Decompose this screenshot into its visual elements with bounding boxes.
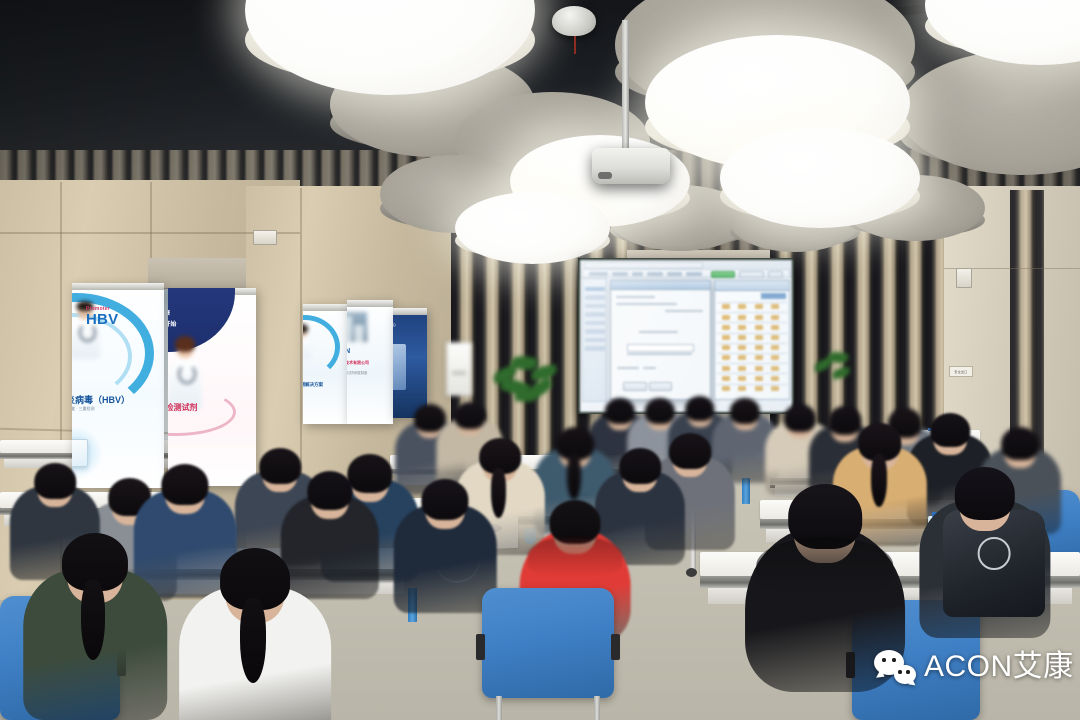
grid-cell[interactable]: [738, 366, 746, 371]
grid-cell[interactable]: [755, 345, 763, 350]
dialog-line: [616, 296, 656, 298]
seminar-room-photo: 安全出口: [0, 0, 1080, 720]
grid-row-line: [717, 363, 787, 364]
audience-person: [919, 455, 1050, 650]
grid-cell[interactable]: [722, 376, 730, 381]
dialog-line: [627, 353, 693, 355]
wall-switch-plate[interactable]: [253, 230, 277, 245]
smoke-detector-icon: [552, 6, 596, 36]
grid-cell[interactable]: [755, 325, 763, 330]
table-caster: [686, 568, 697, 577]
watermark-text: ACON艾康: [924, 652, 1074, 682]
dialog-titlebar: [611, 281, 711, 290]
toolbar-item[interactable]: [612, 272, 628, 276]
wall-switch-plate[interactable]: [956, 268, 972, 288]
banner-company: ACON 艾康生物技术有限公司 专业体外诊断试剂研发制造: [347, 300, 393, 424]
grid-row-line: [717, 312, 787, 313]
person-ponytail: [81, 580, 106, 661]
toolbar-icon-button[interactable]: [768, 271, 782, 277]
grid-cell[interactable]: [738, 315, 746, 320]
banner-headline-line2: 从筛查HPV开始: [168, 319, 176, 328]
person-hair: [455, 402, 486, 429]
grid-row-line: [717, 343, 787, 344]
grid-cell[interactable]: [755, 315, 763, 320]
grid-cell[interactable]: [755, 304, 763, 309]
grid-cell[interactable]: [755, 386, 763, 391]
lamp-face: [720, 128, 920, 228]
grid-cell[interactable]: [771, 366, 779, 371]
grid-cell[interactable]: [738, 345, 746, 350]
person-hair: [930, 413, 970, 448]
sidebar-row[interactable]: [585, 338, 605, 343]
wechat-logo-icon: [874, 650, 916, 684]
grid-cell[interactable]: [738, 325, 746, 330]
ceiling-lamp: [720, 128, 920, 228]
ceiling-lamp: [455, 192, 610, 264]
person-hair: [34, 463, 76, 499]
toolbar-item[interactable]: [667, 272, 681, 276]
grid-cell[interactable]: [738, 386, 746, 391]
grid-row-line: [717, 384, 787, 385]
person-hair: [307, 471, 352, 511]
water-dispenser: [446, 342, 472, 396]
grid-cell[interactable]: [771, 386, 779, 391]
grid-cell[interactable]: [738, 376, 746, 381]
banner-headline: 快速检测解决方案: [303, 382, 323, 388]
dialog-ok-button[interactable]: [623, 382, 647, 391]
grid-cell[interactable]: [738, 335, 746, 340]
potted-plant-right: [812, 350, 854, 392]
person-hair: [730, 398, 760, 424]
screen-sidebar: [582, 278, 607, 402]
grid-cell[interactable]: [722, 366, 730, 371]
banner-subline: 快速诊断检测试剂盒 · 三重检测: [72, 406, 95, 412]
grid-cell[interactable]: [722, 355, 730, 360]
grid-cell[interactable]: [755, 366, 763, 371]
toolbar-primary-button[interactable]: [711, 271, 736, 277]
person-ponytail: [240, 598, 266, 683]
toolbar-item[interactable]: [632, 272, 642, 276]
grid-cell[interactable]: [771, 304, 779, 309]
grid-cell[interactable]: [722, 304, 730, 309]
banner-headline: 艾康生物技术有限公司: [347, 360, 369, 366]
dialog-line: [665, 310, 703, 312]
grid-cell[interactable]: [722, 325, 730, 330]
screen-dialog: [610, 280, 712, 401]
grid-row-line: [717, 353, 787, 354]
sidebar-row[interactable]: [585, 287, 605, 292]
toolbar-item[interactable]: [647, 272, 663, 276]
grid-cell[interactable]: [755, 355, 763, 360]
grid-cell[interactable]: [755, 335, 763, 340]
dialog-line: [616, 303, 678, 305]
dialog-line: [639, 331, 679, 333]
projector: [592, 148, 670, 184]
grid-cell[interactable]: [771, 315, 779, 320]
sidebar-row[interactable]: [585, 346, 605, 351]
audience-person: [179, 535, 331, 720]
banner-headline-line1: 关爱女性健康: [168, 308, 170, 317]
person-hair: [421, 479, 468, 520]
chair-foreground-center[interactable]: [482, 588, 614, 698]
grid-cell[interactable]: [771, 355, 779, 360]
grid-cell[interactable]: [771, 325, 779, 330]
grid-header: [715, 281, 789, 291]
dialog-line: [643, 367, 657, 369]
person-hood: [756, 537, 894, 594]
lamp-face: [455, 192, 610, 264]
watermark: ACON艾康: [874, 650, 1074, 684]
grid-cell[interactable]: [771, 335, 779, 340]
banner-pink-wave: [168, 388, 236, 436]
sidebar-row[interactable]: [585, 321, 605, 326]
person-hair: [619, 448, 661, 484]
grid-cell[interactable]: [738, 304, 746, 309]
person-hood: [527, 536, 622, 575]
app-toolbar: [582, 269, 790, 278]
grid-row-line: [717, 302, 787, 303]
person-hair: [685, 396, 714, 422]
grid-row-line: [717, 322, 787, 323]
toolbar-item[interactable]: [686, 272, 702, 276]
banner-headline: 乙型肝炎病毒（HBV）: [72, 393, 130, 406]
person-hair: [161, 464, 208, 505]
banner-headline: 产品中心: [393, 322, 396, 328]
toolbar-secondary-button[interactable]: [739, 271, 764, 277]
grid-cell[interactable]: [771, 376, 779, 381]
grid-cell[interactable]: [738, 355, 746, 360]
audience-person: [23, 520, 167, 720]
sidebar-row[interactable]: [585, 304, 605, 309]
grid-row-line: [717, 373, 787, 374]
person-hair: [955, 467, 1015, 520]
grid-cell[interactable]: [722, 335, 730, 340]
grid-cell[interactable]: [771, 345, 779, 350]
screen-data-grid: [714, 280, 790, 401]
grid-cell[interactable]: [722, 315, 730, 320]
grid-row-line: [717, 333, 787, 334]
grid-cell[interactable]: [722, 345, 730, 350]
backpack-logo-icon: [978, 537, 1011, 570]
grid-highlight: [761, 293, 787, 299]
banner-subline: 专业体外诊断试剂研发制造: [347, 370, 367, 375]
exit-sign: 安全出口: [949, 366, 973, 377]
audience-person: [394, 470, 497, 623]
toolbar-item[interactable]: [589, 272, 608, 276]
grid-cell[interactable]: [755, 376, 763, 381]
banner-product: HBV: [86, 313, 118, 327]
dialog-line: [617, 367, 639, 369]
app-tabbar[interactable]: [584, 262, 703, 269]
banner-brand: ACON: [347, 348, 350, 355]
sidebar-row[interactable]: [585, 295, 605, 300]
sidebar-row[interactable]: [585, 312, 605, 317]
banner-blue-arc: 快速检测解决方案: [303, 304, 347, 424]
sidebar-row[interactable]: [585, 329, 605, 334]
projector-mount-pole: [622, 20, 629, 148]
dialog-input[interactable]: [627, 344, 695, 352]
building-photo: [347, 312, 367, 342]
banner-product-image: [393, 344, 406, 390]
